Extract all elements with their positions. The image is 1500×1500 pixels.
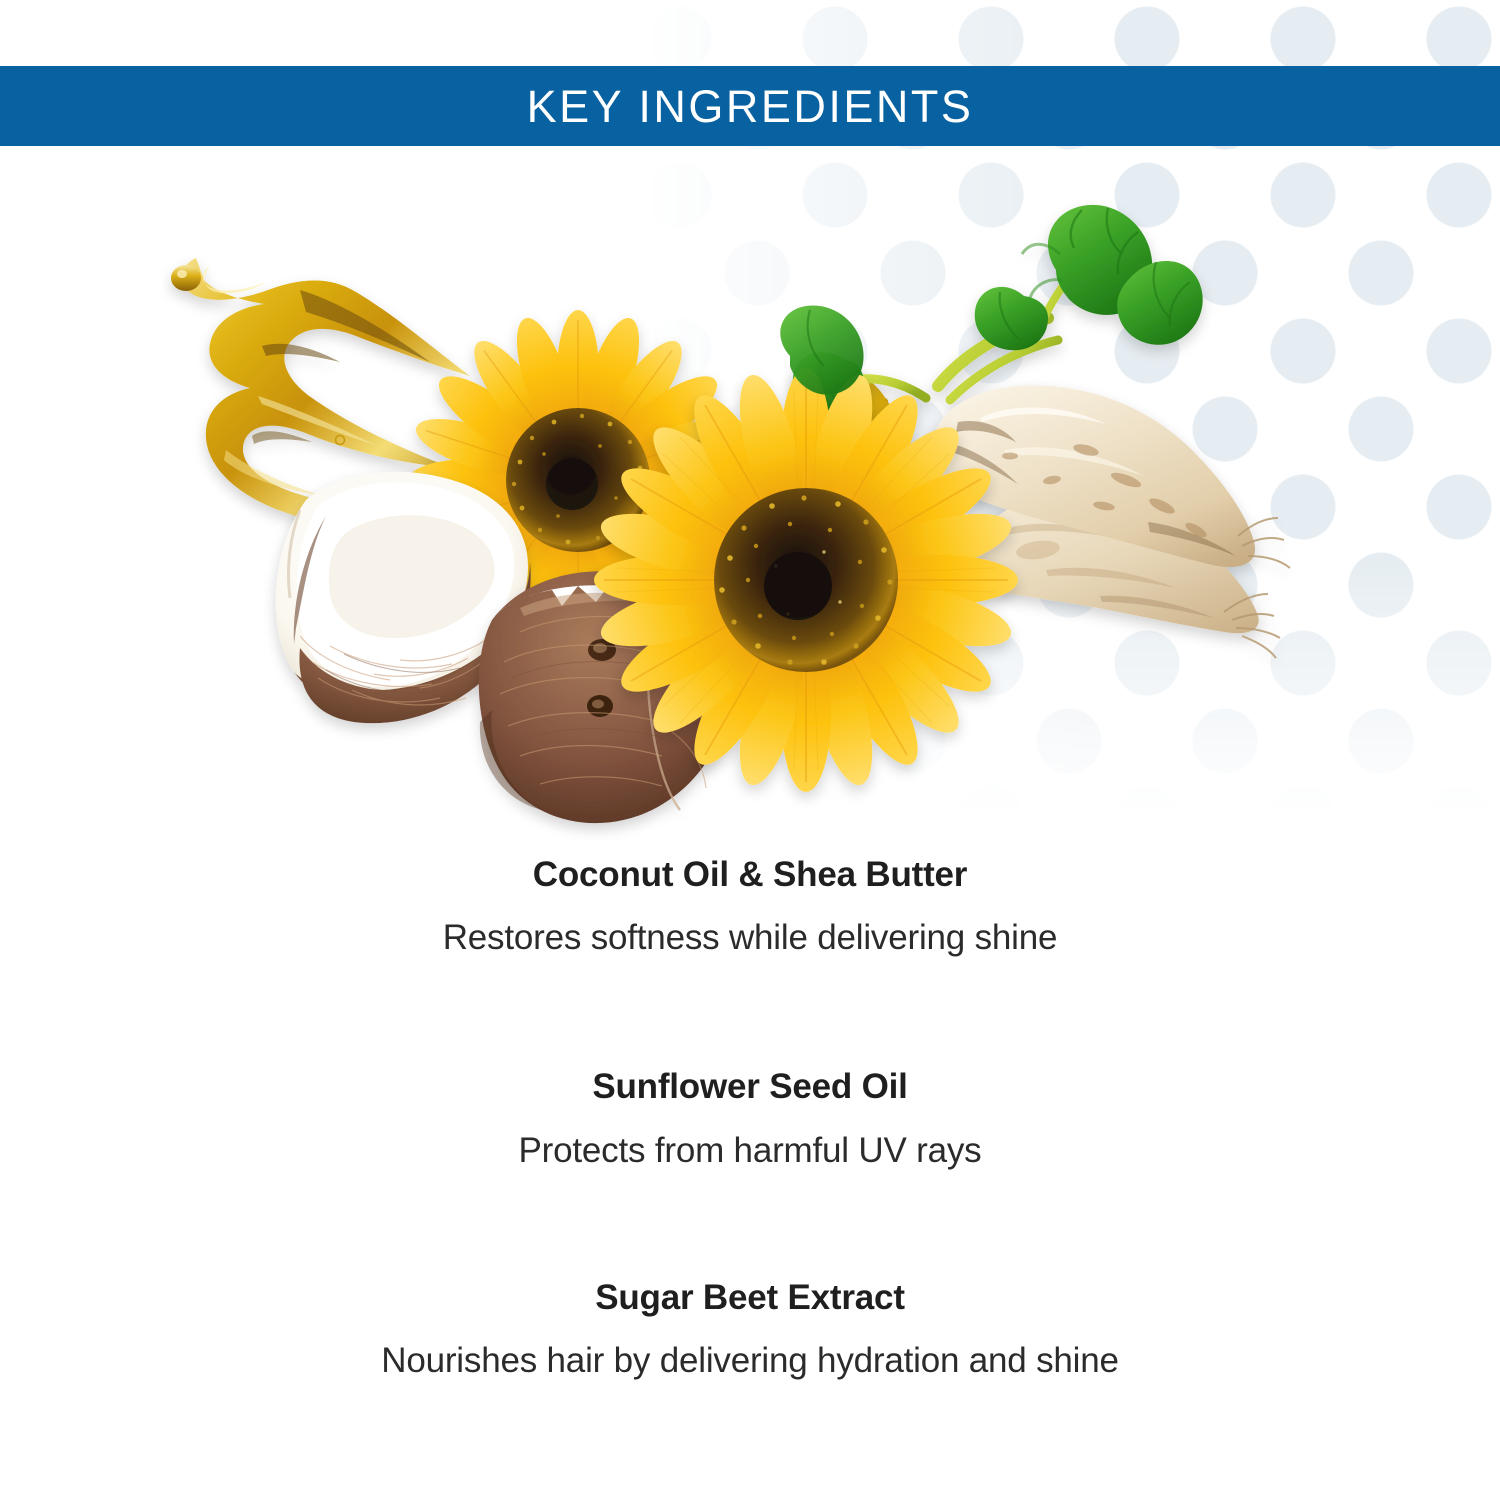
ingredient-description: Protects from harmful UV rays xyxy=(0,1130,1500,1172)
ingredient-name: Coconut Oil & Shea Butter xyxy=(0,855,1500,895)
sunflower-front xyxy=(594,368,1018,792)
ingredient-list: Coconut Oil & Shea Butter Restores softn… xyxy=(0,855,1500,1382)
key-ingredients-banner: KEY INGREDIENTS xyxy=(0,66,1500,146)
banner-title: KEY INGREDIENTS xyxy=(527,84,974,129)
ingredient-description: Restores softness while delivering shine xyxy=(0,917,1500,959)
ingredient-name: Sunflower Seed Oil xyxy=(0,1067,1500,1107)
ingredient-item-coconut-oil-shea-butter: Coconut Oil & Shea Butter Restores softn… xyxy=(0,855,1500,959)
infographic-page: KEY INGREDIENTS xyxy=(0,0,1500,1500)
ingredient-item-sunflower-seed-oil: Sunflower Seed Oil Protects from harmful… xyxy=(0,1067,1500,1171)
ingredient-name: Sugar Beet Extract xyxy=(0,1278,1500,1318)
ingredient-hero-image xyxy=(0,150,1500,830)
hero-illustration xyxy=(0,150,1500,830)
ingredient-item-sugar-beet-extract: Sugar Beet Extract Nourishes hair by del… xyxy=(0,1278,1500,1382)
ingredient-description: Nourishes hair by delivering hydration a… xyxy=(0,1340,1500,1382)
